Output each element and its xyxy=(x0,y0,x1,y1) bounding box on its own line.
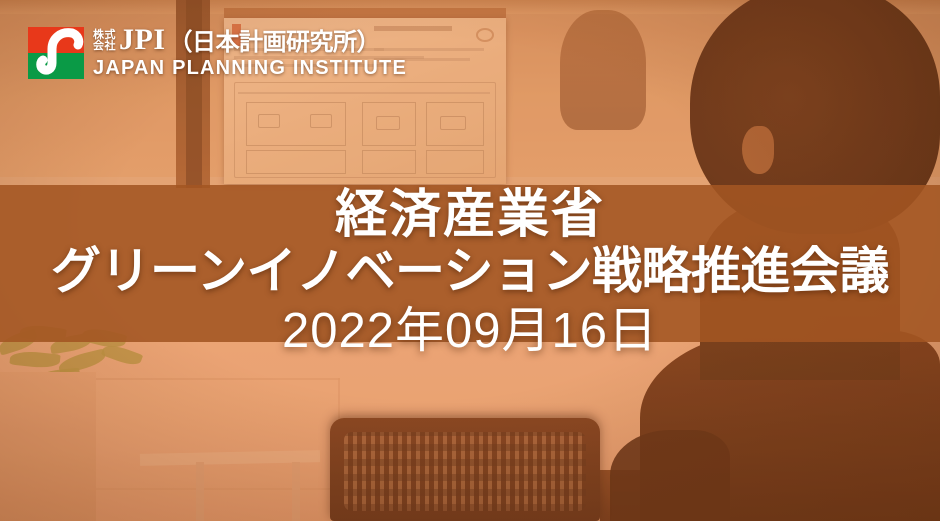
seminar-banner: 株式 会社 JPI （日本計画研究所） JAPAN PLANNING INSTI… xyxy=(0,0,940,521)
jpi-logo: 株式 会社 JPI （日本計画研究所） JAPAN PLANNING INSTI… xyxy=(28,26,407,80)
title-block: 経済産業省 グリーンイノベーション戦略推進会議 2022年09月16日 xyxy=(0,185,940,360)
jpi-logo-mark-icon xyxy=(28,27,84,79)
jpi-logo-text: 株式 会社 JPI （日本計画研究所） JAPAN PLANNING INSTI… xyxy=(93,26,407,80)
brand-name-ja: （日本計画研究所） xyxy=(169,31,381,55)
event-date: 2022年09月16日 xyxy=(0,303,940,359)
logo-hook-glyph xyxy=(28,27,84,79)
company-prefix: 株式 会社 xyxy=(93,30,116,55)
brand-abbrev: JPI xyxy=(119,26,166,55)
title-line-2: グリーンイノベーション戦略推進会議 xyxy=(0,243,940,299)
title-line-1: 経済産業省 xyxy=(0,187,940,243)
brand-name-en: JAPAN PLANNING INSTITUTE xyxy=(93,57,407,80)
